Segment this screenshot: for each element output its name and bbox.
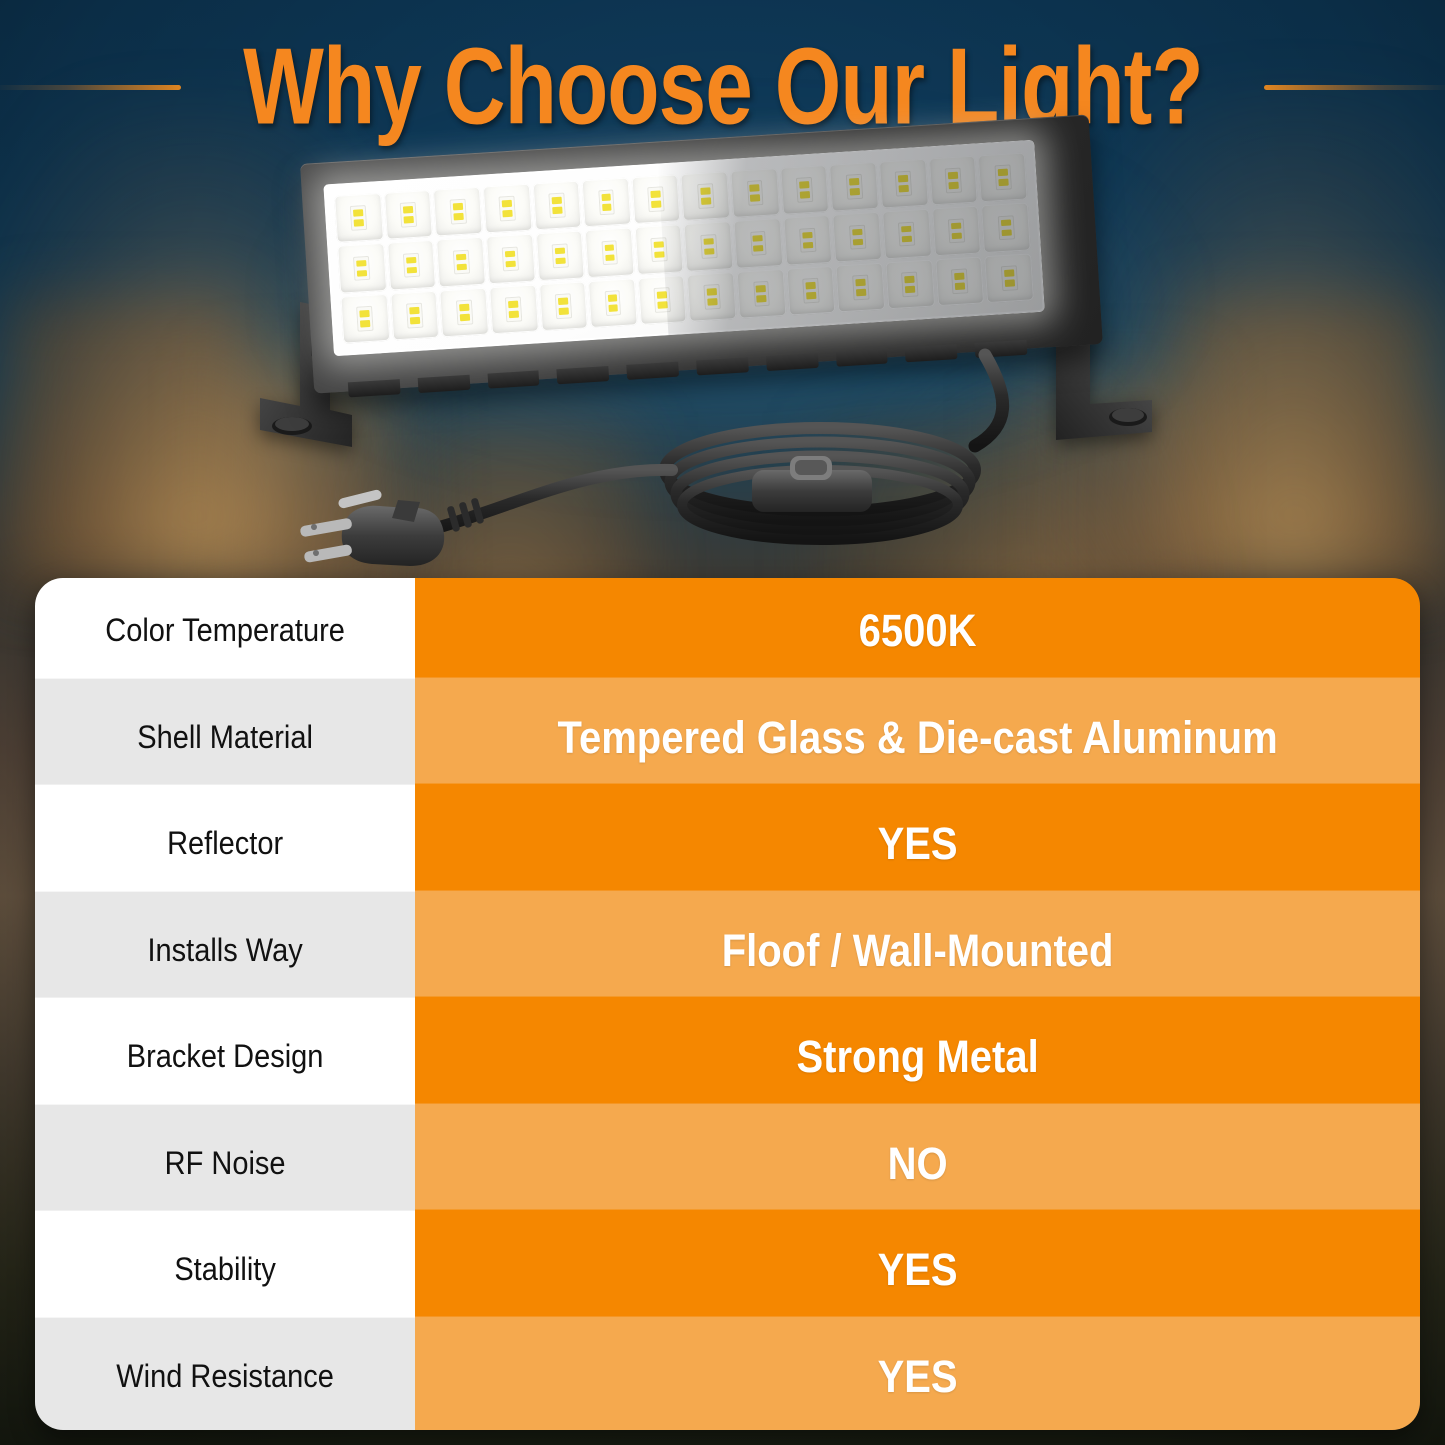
spec-value: Floof / Wall-Mounted xyxy=(415,890,1420,1011)
table-row: RF NoiseNO xyxy=(35,1111,1420,1218)
spec-value: Strong Metal xyxy=(415,997,1420,1118)
spec-value: YES xyxy=(415,784,1420,905)
spec-label: Installs Way xyxy=(35,891,415,1010)
table-row: Wind ResistanceYES xyxy=(35,1324,1420,1431)
infographic-stage: Why Choose Our Light? xyxy=(0,0,1445,1445)
spec-label: Color Temperature xyxy=(35,578,415,691)
spec-label: Reflector xyxy=(35,785,415,904)
table-row: Installs WayFloof / Wall-Mounted xyxy=(35,898,1420,1005)
spec-value: Tempered Glass & Die-cast Aluminum xyxy=(415,677,1420,798)
inline-rocker-switch-icon xyxy=(752,456,872,512)
table-row: StabilityYES xyxy=(35,1217,1420,1324)
spec-label: Wind Resistance xyxy=(35,1317,415,1430)
spec-label: Stability xyxy=(35,1211,415,1330)
table-row: ReflectorYES xyxy=(35,791,1420,898)
table-row: Shell MaterialTempered Glass & Die-cast … xyxy=(35,685,1420,792)
table-row: Color Temperature6500K xyxy=(35,578,1420,685)
header-banner: Why Choose Our Light? xyxy=(0,22,1445,152)
spec-value: YES xyxy=(415,1210,1420,1331)
decorative-dash-left-icon xyxy=(0,85,181,90)
table-row: Bracket DesignStrong Metal xyxy=(35,1004,1420,1111)
product-image-led-flood-light xyxy=(0,150,1445,580)
spec-value: 6500K xyxy=(415,578,1420,692)
specification-table: Color Temperature6500KShell MaterialTemp… xyxy=(35,578,1420,1430)
power-cord-assembly xyxy=(0,150,1445,580)
spec-label: RF Noise xyxy=(35,1104,415,1223)
spec-label: Shell Material xyxy=(35,678,415,797)
decorative-dash-right-icon xyxy=(1264,85,1445,90)
spec-value: NO xyxy=(415,1103,1420,1224)
spec-value: YES xyxy=(415,1316,1420,1430)
us-three-prong-plug-icon xyxy=(300,489,445,566)
spec-label: Bracket Design xyxy=(35,998,415,1117)
